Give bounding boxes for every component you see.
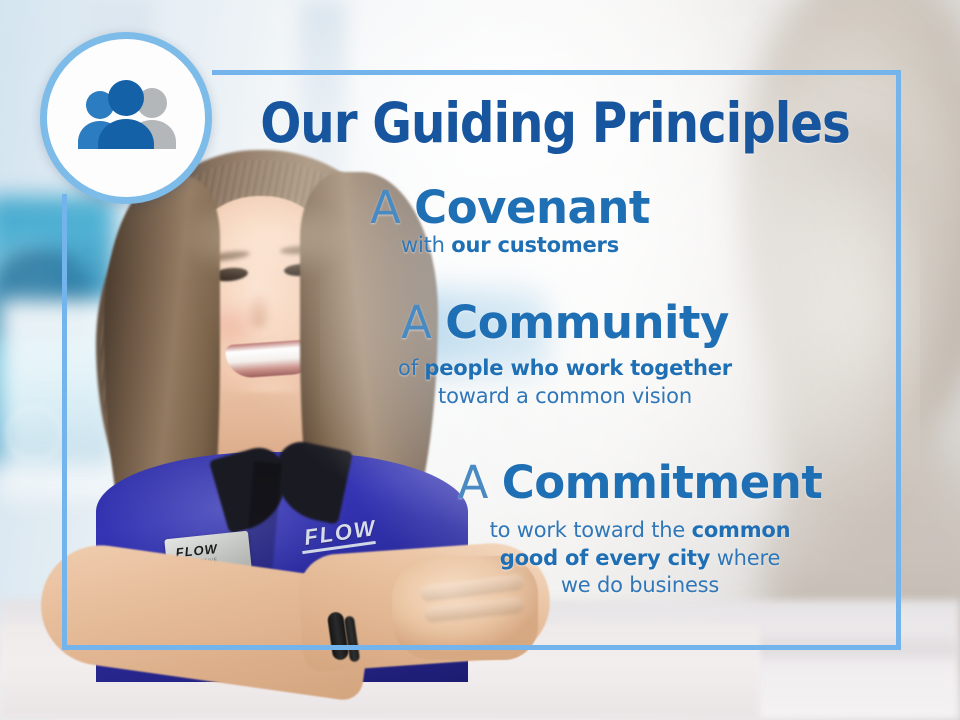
principle-commitment-article: A (458, 456, 502, 509)
principle-commitment-subline-0: to work toward the common (400, 517, 880, 545)
principle-covenant-heading: A Covenant (300, 185, 720, 232)
principle-covenant: A Covenant with our customers (300, 185, 720, 260)
poster-canvas: FLOW AUTOMOTIVE FLOW (0, 0, 960, 720)
subline-part: toward a common vision (438, 384, 692, 408)
principle-community-article: A (401, 296, 445, 349)
principle-commitment-subtext: to work toward the common good of every … (400, 517, 880, 600)
subline-part-bold: our customers (451, 233, 619, 257)
principle-covenant-subtext: with our customers (300, 232, 720, 260)
subline-part-bold: good of every city (500, 546, 710, 570)
principle-commitment-heading: A Commitment (400, 460, 880, 507)
principle-covenant-subline-0: with our customers (300, 232, 720, 260)
subline-part: with (401, 233, 451, 257)
principle-community-subline-1: toward a common vision (330, 383, 800, 411)
principle-community-subtext: of people who work together toward a com… (330, 355, 800, 410)
subline-part: to work toward the (490, 518, 692, 542)
principle-commitment-subline-2: we do business (400, 572, 880, 600)
subline-part-bold: common (692, 518, 791, 542)
principle-covenant-article: A (370, 181, 414, 234)
page-title: Our Guiding Principles (256, 96, 854, 151)
copy-layer: Our Guiding Principles A Covenant with o… (0, 0, 960, 720)
principle-community: A Community of people who work together … (330, 300, 800, 410)
principle-covenant-keyword: Covenant (414, 181, 650, 234)
subline-part: of (398, 356, 424, 380)
subline-part: we do business (561, 573, 719, 597)
principle-community-subline-0: of people who work together (330, 355, 800, 383)
principle-community-keyword: Community (445, 296, 729, 349)
principle-community-heading: A Community (330, 300, 800, 347)
principle-commitment-subline-1: good of every city where (400, 545, 880, 573)
principle-commitment: A Commitment to work toward the common g… (400, 460, 880, 600)
subline-part: where (710, 546, 780, 570)
subline-part-bold: people who work together (424, 356, 732, 380)
principle-commitment-keyword: Commitment (502, 456, 823, 509)
